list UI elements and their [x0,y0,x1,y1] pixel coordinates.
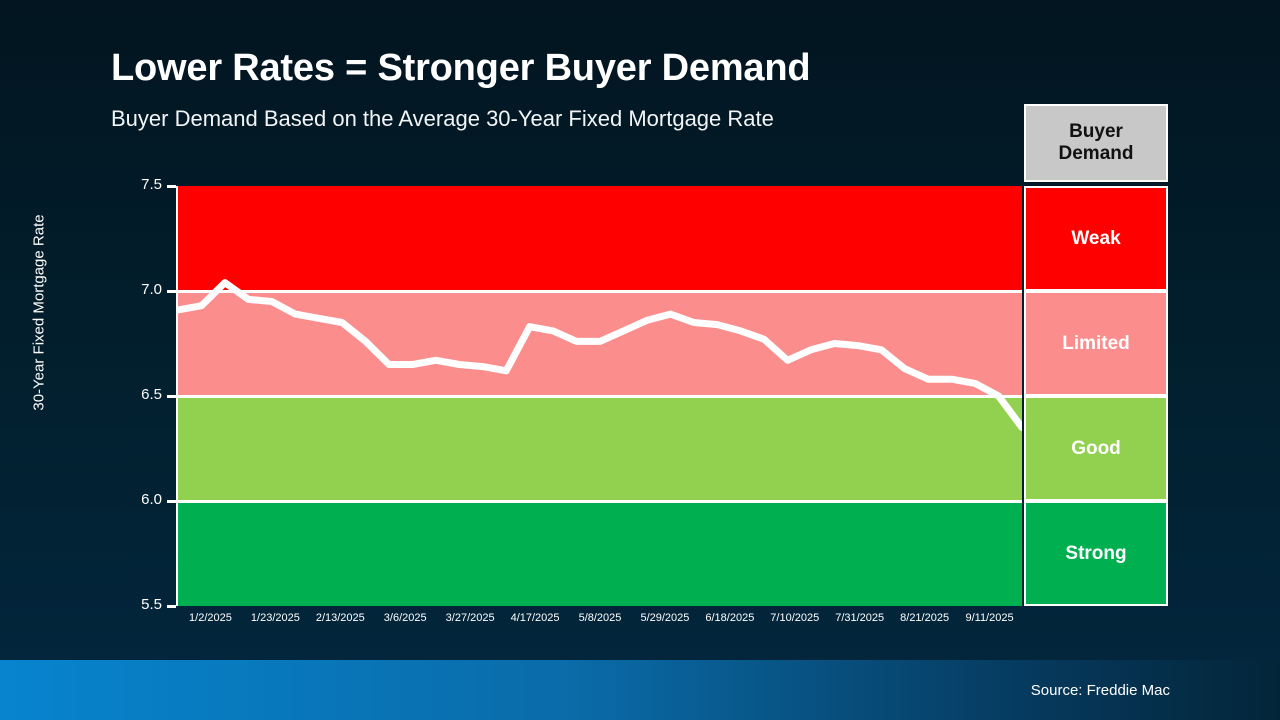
x-tick-label: 8/21/2025 [900,612,949,624]
footer-bar: Source: Freddie Mac [0,660,1280,720]
x-tick-label: 7/31/2025 [835,612,884,624]
x-axis-labels: 1/2/20251/23/20252/13/20253/6/20253/27/2… [178,612,1022,632]
source-note: Source: Freddie Mac [1031,682,1170,699]
x-tick-label: 3/27/2025 [446,612,495,624]
legend-cell-good: Good [1024,396,1168,501]
y-tick-label: 7.5 [106,176,162,193]
legend-header-line2: Demand [1059,143,1134,164]
x-tick-label: 5/29/2025 [640,612,689,624]
x-tick-label: 1/2/2025 [189,612,232,624]
x-tick-label: 9/11/2025 [965,612,1013,624]
plot-area [178,186,1022,606]
x-tick-label: 4/17/2025 [511,612,560,624]
legend-cell-limited: Limited [1024,291,1168,396]
y-tick-mark [167,185,176,188]
x-tick-label: 7/10/2025 [770,612,819,624]
y-tick-label: 7.0 [106,281,162,298]
y-axis-title: 30-Year Fixed Mortgage Rate [31,198,48,428]
x-tick-label: 1/23/2025 [251,612,300,624]
y-tick-mark [167,605,176,608]
x-tick-label: 3/6/2025 [384,612,427,624]
y-tick-label: 6.5 [106,386,162,403]
y-tick-label: 6.0 [106,491,162,508]
y-tick-mark [167,395,176,398]
y-tick-mark [167,500,176,503]
legend-header-line1: Buyer [1069,121,1123,142]
buyer-demand-legend: Buyer Demand WeakLimitedGoodStrong [1024,104,1168,608]
rate-line-series [178,186,1022,606]
x-tick-label: 5/8/2025 [579,612,622,624]
legend-cell-strong: Strong [1024,501,1168,606]
x-tick-label: 2/13/2025 [316,612,365,624]
y-tick-label: 5.5 [106,596,162,613]
y-axis-labels: 5.56.06.57.07.5 [104,186,162,606]
y-tick-mark [167,290,176,293]
legend-header: Buyer Demand [1024,104,1168,182]
slide: Lower Rates = Stronger Buyer Demand Buye… [0,0,1280,720]
x-tick-label: 6/18/2025 [705,612,754,624]
legend-cell-weak: Weak [1024,186,1168,291]
